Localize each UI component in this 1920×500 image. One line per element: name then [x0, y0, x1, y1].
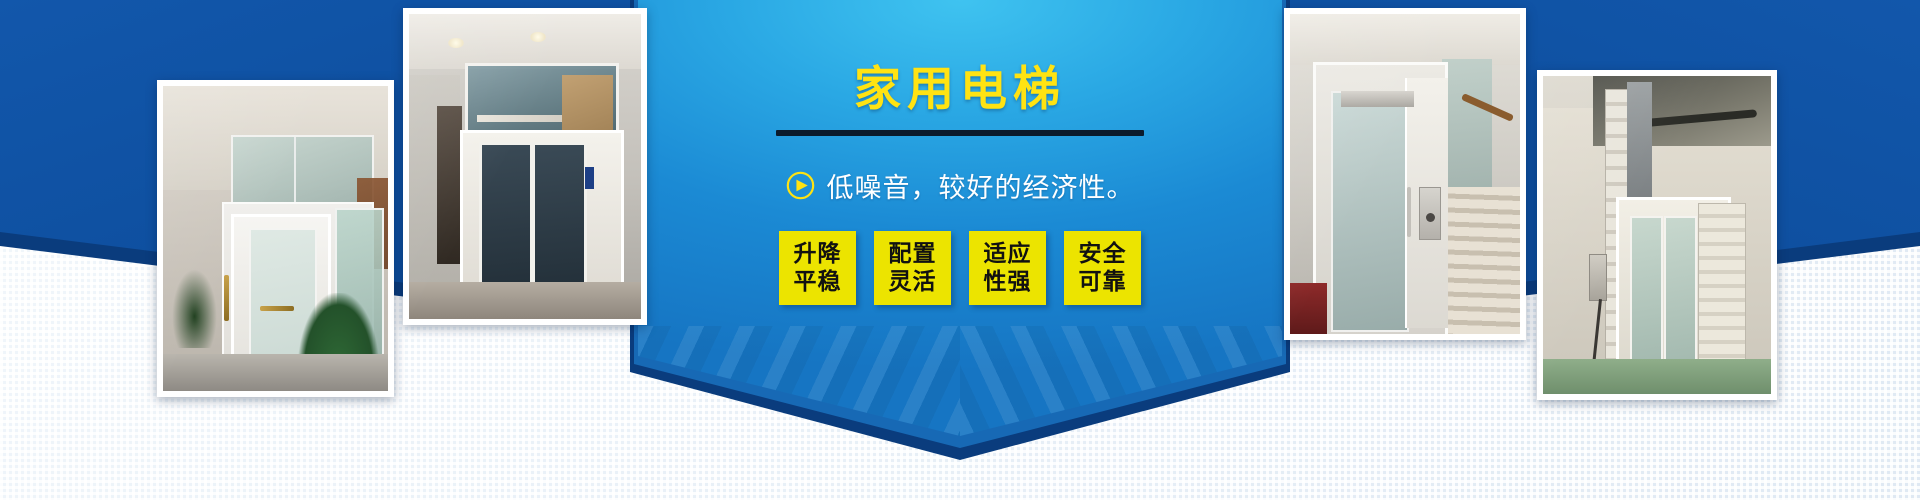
- elevator-photo-2[interactable]: [403, 8, 647, 325]
- green-floor: [1543, 359, 1771, 394]
- feature-badge-3[interactable]: 适应 性强: [969, 231, 1046, 305]
- feature-badge-2[interactable]: 配置 灵活: [874, 231, 951, 305]
- photo-1-image: [163, 86, 388, 391]
- page-title: 家用电梯: [648, 64, 1272, 116]
- dark-doorway: [437, 106, 463, 265]
- badge-4-line-2: 可靠: [1079, 268, 1127, 296]
- subtitle-row: 低噪音，较好的经济性。: [648, 166, 1272, 205]
- badge-1-line-2: 平稳: [794, 268, 842, 296]
- upper-glass-shaft: [231, 135, 375, 212]
- circled-play-arrow-icon: [786, 171, 815, 200]
- wall-call-box: [1589, 254, 1607, 301]
- photo-3-image: [1290, 14, 1520, 334]
- ceiling: [409, 14, 641, 69]
- banner-text-block: 家用电梯 低噪音，较好的经济性。 升降 平稳 配置 灵活 适应 性强: [648, 64, 1272, 305]
- title-divider: [776, 130, 1144, 136]
- photo-4-image: [1543, 76, 1771, 394]
- feature-badge-list: 升降 平稳 配置 灵活 适应 性强 安全 可靠: [648, 231, 1272, 305]
- tiled-floor: [163, 354, 388, 391]
- call-button-panel: [585, 167, 594, 189]
- badge-1-line-1: 升降: [794, 240, 842, 268]
- badge-2-line-1: 配置: [889, 240, 937, 268]
- cabin-glass: [1331, 91, 1409, 332]
- red-sofa: [1290, 283, 1327, 334]
- door-closer-arm: [1341, 91, 1415, 107]
- elevator-photo-3[interactable]: [1284, 8, 1526, 340]
- ceiling: [1290, 14, 1520, 65]
- subtitle-text: 低噪音，较好的经济性。: [827, 166, 1135, 205]
- door-pull-handle: [1407, 187, 1411, 237]
- elevator-photo-4[interactable]: [1537, 70, 1777, 400]
- elevator-photo-1[interactable]: [157, 80, 394, 397]
- brass-door-handle: [224, 275, 229, 321]
- badge-3-line-2: 性强: [984, 268, 1032, 296]
- marble-staircase: [1442, 187, 1520, 334]
- badge-2-line-2: 灵活: [889, 268, 937, 296]
- background-plant: [172, 269, 217, 348]
- control-panel: [1419, 187, 1442, 240]
- photo-2-image: [409, 14, 641, 319]
- feature-badge-1[interactable]: 升降 平稳: [779, 231, 856, 305]
- tiled-floor: [409, 282, 641, 319]
- home-elevator-banner: 家用电梯 低噪音，较好的经济性。 升降 平稳 配置 灵活 适应 性强: [0, 0, 1920, 500]
- badge-4-line-1: 安全: [1079, 240, 1127, 268]
- brass-push-bar: [260, 306, 294, 311]
- badge-3-line-1: 适应: [984, 240, 1032, 268]
- feature-badge-4[interactable]: 安全 可靠: [1064, 231, 1141, 305]
